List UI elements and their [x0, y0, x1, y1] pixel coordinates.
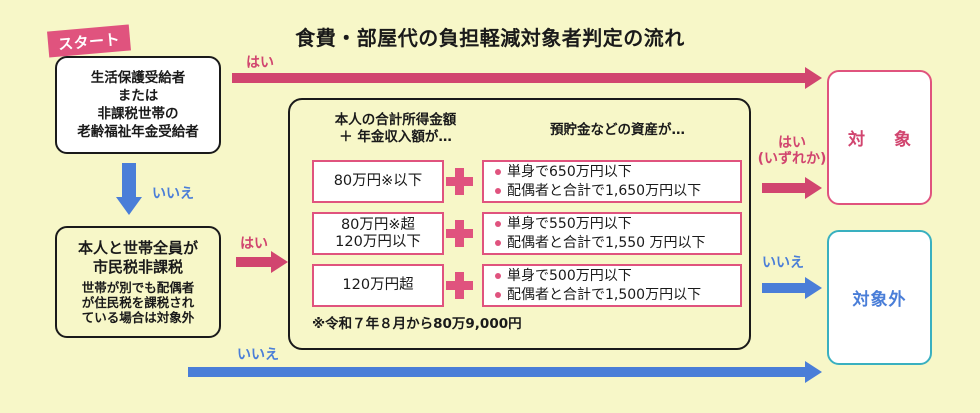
- condition-row: 120万円超 単身で500万円以下 配偶者と合計で1,500万円以下: [312, 264, 742, 307]
- box-start-line-1: 生活保護受給者: [91, 69, 186, 87]
- result-box-target-label: 対 象: [842, 125, 917, 150]
- panel-header-income-line-1: 本人の合計所得金額: [308, 112, 483, 129]
- plus-icon: [444, 264, 482, 307]
- income-condition-line-1: 80万円※以下: [334, 173, 423, 190]
- asset-condition-line-1: 単身で500万円以下: [494, 267, 740, 285]
- asset-condition-line-1: 単身で550万円以下: [494, 215, 740, 233]
- box-nontax-sub-line-2: が住民税を課税され: [82, 295, 195, 310]
- asset-condition-box: 単身で650万円以下 配偶者と合計で1,650万円以下: [482, 160, 742, 203]
- income-condition-box: 80万円※超 120万円以下: [312, 212, 444, 255]
- panel-footnote: ※令和７年８月から80万9,000円: [312, 312, 522, 332]
- arrow-label-hai-right-line-2: (いずれか): [757, 151, 827, 167]
- result-box-target: 対 象: [827, 70, 932, 205]
- page-title: 食費・部屋代の負担軽減対象者判定の流れ: [0, 22, 980, 51]
- panel-header-income: 本人の合計所得金額 ＋ 年金収入額が…: [308, 112, 483, 146]
- arrow-label-hai-top: はい: [246, 55, 274, 71]
- arrow-label-hai-right: はい (いずれか): [757, 135, 827, 167]
- arrow-bottom-head: [805, 361, 822, 383]
- arrow-label-iie-bottom: いいえ: [237, 347, 279, 363]
- panel-header-assets: 預貯金などの資産が…: [495, 118, 740, 138]
- income-condition-line-2: 120万円以下: [335, 234, 421, 251]
- decision-box-municipal-tax-exempt: 本人と世帯全員が 市民税非課税 世帯が別でも配偶者 が住民税を課税され ている場…: [55, 226, 221, 338]
- asset-condition-box: 単身で500万円以下 配偶者と合計で1,500万円以下: [482, 264, 742, 307]
- box-nontax-main-line-1: 本人と世帯全員が: [78, 239, 198, 258]
- arrow-right-blue-head: [805, 277, 822, 299]
- panel-header-income-line-2: ＋ 年金収入額が…: [308, 129, 483, 146]
- arrow-label-iie-vertical: いいえ: [152, 186, 194, 202]
- income-condition-line-1: 120万円超: [342, 277, 413, 294]
- income-condition-line-1: 80万円※超: [341, 217, 415, 234]
- arrow-label-hai-middle: はい: [240, 236, 268, 252]
- conditions-panel: 本人の合計所得金額 ＋ 年金収入額が… 預貯金などの資産が… 80万円※以下 単…: [288, 98, 751, 350]
- asset-condition-box: 単身で550万円以下 配偶者と合計で1,550 万円以下: [482, 212, 742, 255]
- arrow-bottom-shaft: [188, 367, 805, 377]
- condition-row: 80万円※以下 単身で650万円以下 配偶者と合計で1,650万円以下: [312, 160, 742, 203]
- result-box-non-target-label: 対象外: [853, 285, 907, 310]
- arrow-right-pink-shaft: [762, 183, 805, 193]
- arrow-top-shaft: [232, 73, 805, 83]
- box-start-line-2: または: [118, 87, 159, 105]
- arrow-down-head: [116, 197, 142, 215]
- asset-condition-line-2: 配偶者と合計で1,550 万円以下: [494, 234, 740, 252]
- income-condition-box: 120万円超: [312, 264, 444, 307]
- flowchart-canvas: 食費・部屋代の負担軽減対象者判定の流れ スタート 生活保護受給者 または 非課税…: [0, 0, 980, 413]
- condition-row: 80万円※超 120万円以下 単身で550万円以下 配偶者と合計で1,550 万…: [312, 212, 742, 255]
- plus-icon: [444, 160, 482, 203]
- box-nontax-main: 本人と世帯全員が 市民税非課税: [78, 239, 198, 277]
- box-nontax-sub-line-1: 世帯が別でも配偶者: [82, 280, 195, 295]
- income-condition-box: 80万円※以下: [312, 160, 444, 203]
- arrow-middle-head: [271, 251, 288, 273]
- box-start-line-3: 非課税世帯の: [98, 105, 179, 123]
- arrow-down-shaft: [122, 163, 136, 199]
- start-badge-label: スタート: [57, 28, 121, 54]
- arrow-label-hai-right-line-1: はい: [757, 135, 827, 151]
- box-start-line-4: 老齢福祉年金受給者: [77, 123, 199, 141]
- decision-box-welfare-recipient: 生活保護受給者 または 非課税世帯の 老齢福祉年金受給者: [55, 56, 221, 154]
- arrow-right-pink-head: [805, 177, 822, 199]
- box-nontax-sub-line-3: ている場合は対象外: [82, 310, 195, 325]
- result-box-non-target: 対象外: [827, 230, 932, 365]
- asset-condition-line-2: 配偶者と合計で1,500万円以下: [494, 286, 740, 304]
- arrow-right-blue-shaft: [762, 283, 805, 293]
- arrow-middle-shaft: [236, 257, 271, 267]
- box-nontax-main-line-2: 市民税非課税: [78, 258, 198, 277]
- arrow-top-head: [805, 67, 822, 89]
- box-nontax-sub: 世帯が別でも配偶者 が住民税を課税され ている場合は対象外: [76, 280, 201, 325]
- asset-condition-line-2: 配偶者と合計で1,650万円以下: [494, 182, 740, 200]
- asset-condition-line-1: 単身で650万円以下: [494, 163, 740, 181]
- plus-icon: [444, 212, 482, 255]
- arrow-label-iie-right: いいえ: [762, 255, 804, 271]
- conditions-panel-header: 本人の合計所得金額 ＋ 年金収入額が… 預貯金などの資産が…: [290, 112, 749, 150]
